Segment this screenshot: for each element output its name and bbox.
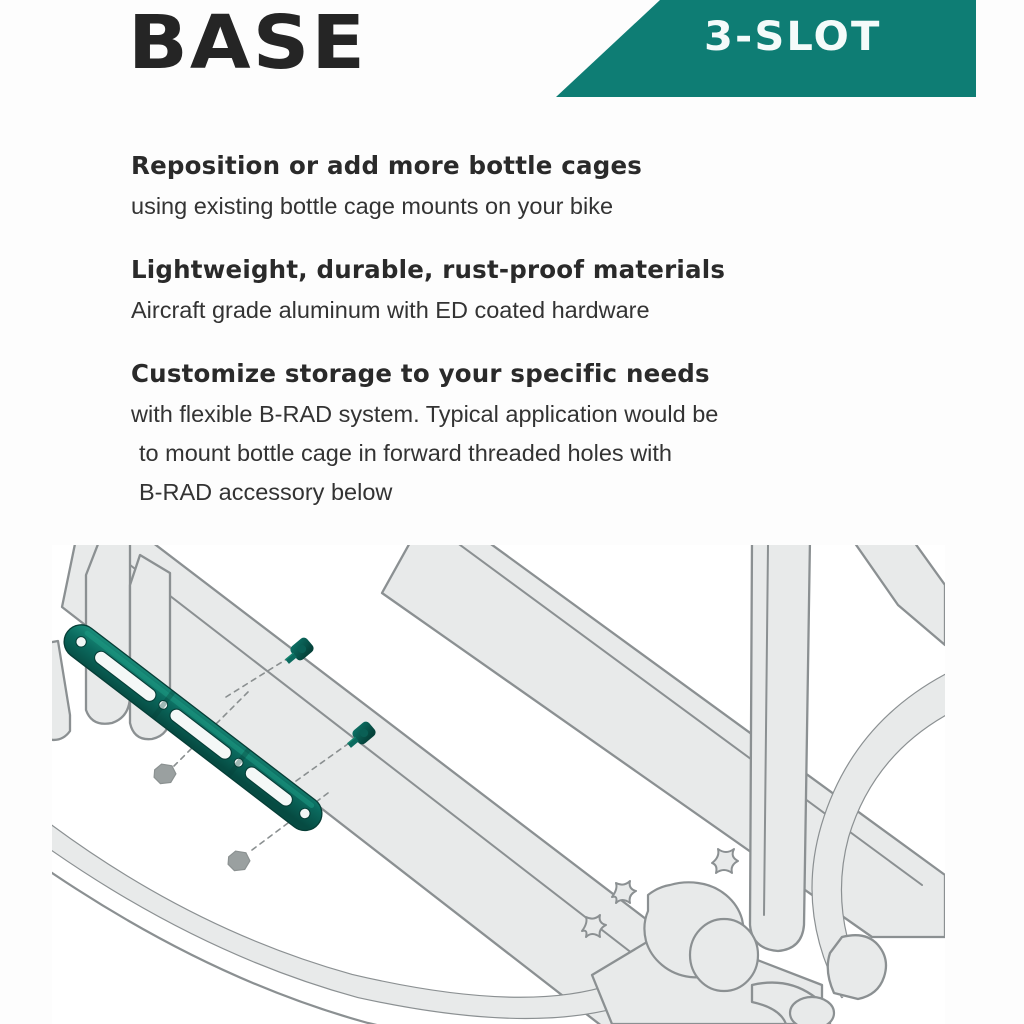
header: BASE 3-SLOT — [0, 0, 1024, 110]
crank-spindle — [790, 997, 834, 1024]
product-infographic-page: BASE 3-SLOT Reposition or add more bottl… — [0, 0, 1024, 1024]
feature-list: Reposition or add more bottle cages usin… — [131, 150, 921, 540]
feature-item-reposition: Reposition or add more bottle cages usin… — [131, 150, 921, 226]
feature-item-materials: Lightweight, durable, rust-proof materia… — [131, 254, 921, 330]
feature-heading: Reposition or add more bottle cages — [131, 150, 921, 182]
feature-heading: Lightweight, durable, rust-proof materia… — [131, 254, 921, 286]
feature-body-line: B-RAD accessory below — [131, 473, 921, 512]
feature-body-line: Aircraft grade aluminum with ED coated h… — [131, 291, 921, 330]
feature-body: Aircraft grade aluminum with ED coated h… — [131, 291, 921, 330]
seat-tube — [750, 545, 810, 951]
feature-body: using existing bottle cage mounts on you… — [131, 187, 921, 226]
slot-count-banner: 3-SLOT — [556, 0, 976, 97]
feature-body-line: to mount bottle cage in forward threaded… — [131, 434, 921, 473]
bike-frame-diagram — [52, 545, 945, 1024]
bottom-bracket — [690, 919, 758, 991]
slot-count-label: 3-SLOT — [704, 14, 881, 60]
page-title: BASE — [128, 4, 367, 82]
feature-heading: Customize storage to your specific needs — [131, 358, 921, 390]
feature-item-customize: Customize storage to your specific needs… — [131, 358, 921, 512]
product-illustration — [52, 545, 945, 1024]
feature-body: with flexible B-RAD system. Typical appl… — [131, 395, 921, 512]
feature-body-line: with flexible B-RAD system. Typical appl… — [131, 395, 921, 434]
feature-body-line: using existing bottle cage mounts on you… — [131, 187, 921, 226]
rear-hub-cluster — [828, 935, 886, 999]
